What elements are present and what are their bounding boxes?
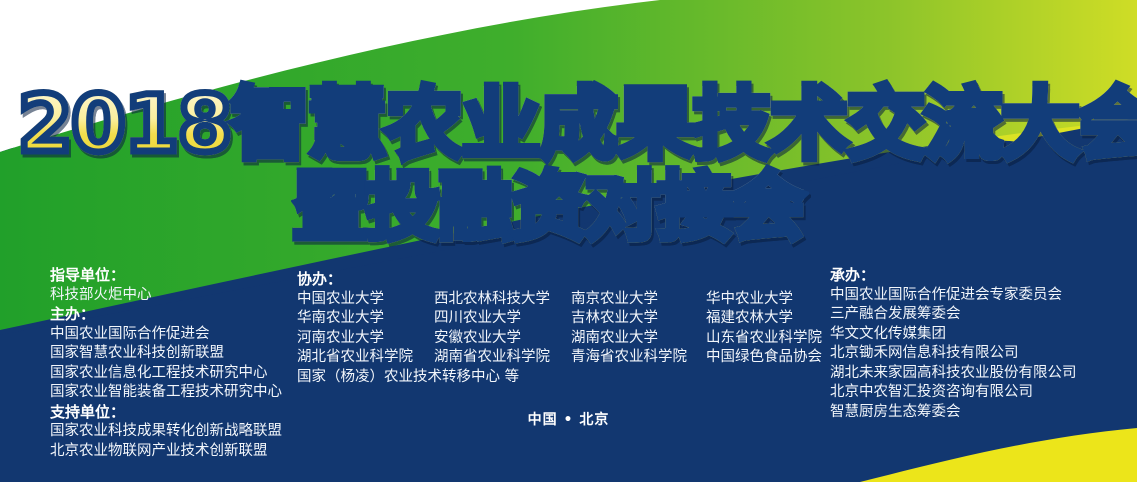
host-item: 国家智慧农业科技创新联盟 bbox=[50, 344, 282, 364]
left-info-column: 指导单位： 科技部火炬中心 主办： 中国农业国际合作促进会 国家智慧农业科技创新… bbox=[50, 266, 282, 461]
co-organizer-item: 吉林农业大学 bbox=[571, 309, 706, 329]
co-organizer-item: 华南农业大学 bbox=[297, 309, 434, 329]
organizer-item: 三产融合发展筹委会 bbox=[830, 305, 1077, 325]
co-organizer-item: 青海省农业科学院 bbox=[571, 348, 706, 368]
guide-unit-item: 科技部火炬中心 bbox=[50, 286, 282, 306]
co-organizer-last-item: 国家（杨凌）农业技术转移中心 等 bbox=[297, 368, 706, 388]
host-item: 国家农业信息化工程技术研究中心 bbox=[50, 364, 282, 384]
host-heading: 主办： bbox=[50, 305, 282, 325]
host-item: 中国农业国际合作促进会 bbox=[50, 325, 282, 345]
organizer-item: 北京中农智汇投资咨询有限公司 bbox=[830, 383, 1077, 403]
co-organizer-item: 华中农业大学 bbox=[706, 290, 822, 310]
co-organizer-item: 河南农业大学 bbox=[297, 329, 434, 349]
co-organizer-item: 山东省农业科学院 bbox=[706, 329, 822, 349]
host-item: 国家农业智能装备工程技术研究中心 bbox=[50, 383, 282, 403]
co-organizer-heading: 协办： bbox=[297, 270, 822, 290]
organizer-heading: 承办： bbox=[830, 266, 1077, 286]
co-organizer-item: 中国农业大学 bbox=[297, 290, 434, 310]
middle-info-column: 协办： 中国农业大学 西北农林科技大学 南京农业大学 华中农业大学 华南农业大学… bbox=[297, 270, 822, 387]
conference-banner: 2018智慧农业成果技术交流大会 暨投融资对接会 指导单位： 科技部火炬中心 主… bbox=[0, 0, 1137, 482]
support-unit-item: 北京农业物联网产业技术创新联盟 bbox=[50, 442, 282, 462]
co-organizer-item: 湖南省农业科学院 bbox=[434, 348, 571, 368]
organizer-item: 中国农业国际合作促进会专家委员会 bbox=[830, 286, 1077, 306]
organizer-item: 湖北未来家园高科技农业股份有限公司 bbox=[830, 364, 1077, 384]
co-organizer-item: 四川农业大学 bbox=[434, 309, 571, 329]
right-info-column: 承办： 中国农业国际合作促进会专家委员会 三产融合发展筹委会 华文文化传媒集团 … bbox=[830, 266, 1077, 422]
co-organizer-item: 安徽农业大学 bbox=[434, 329, 571, 349]
co-organizer-item: 中国绿色食品协会 bbox=[706, 348, 822, 368]
co-organizer-item: 湖南农业大学 bbox=[571, 329, 706, 349]
co-organizer-item: 南京农业大学 bbox=[571, 290, 706, 310]
co-organizer-grid: 中国农业大学 西北农林科技大学 南京农业大学 华中农业大学 华南农业大学 四川农… bbox=[297, 290, 822, 388]
co-organizer-item: 湖北省农业科学院 bbox=[297, 348, 434, 368]
organizer-item: 北京锄禾网信息科技有限公司 bbox=[830, 344, 1077, 364]
organizer-item: 华文文化传媒集团 bbox=[830, 325, 1077, 345]
guide-unit-heading: 指导单位： bbox=[50, 266, 282, 286]
venue-label: 中国 • 北京 bbox=[0, 409, 1137, 429]
co-organizer-item: 福建农林大学 bbox=[706, 309, 822, 329]
co-organizer-item: 西北农林科技大学 bbox=[434, 290, 571, 310]
